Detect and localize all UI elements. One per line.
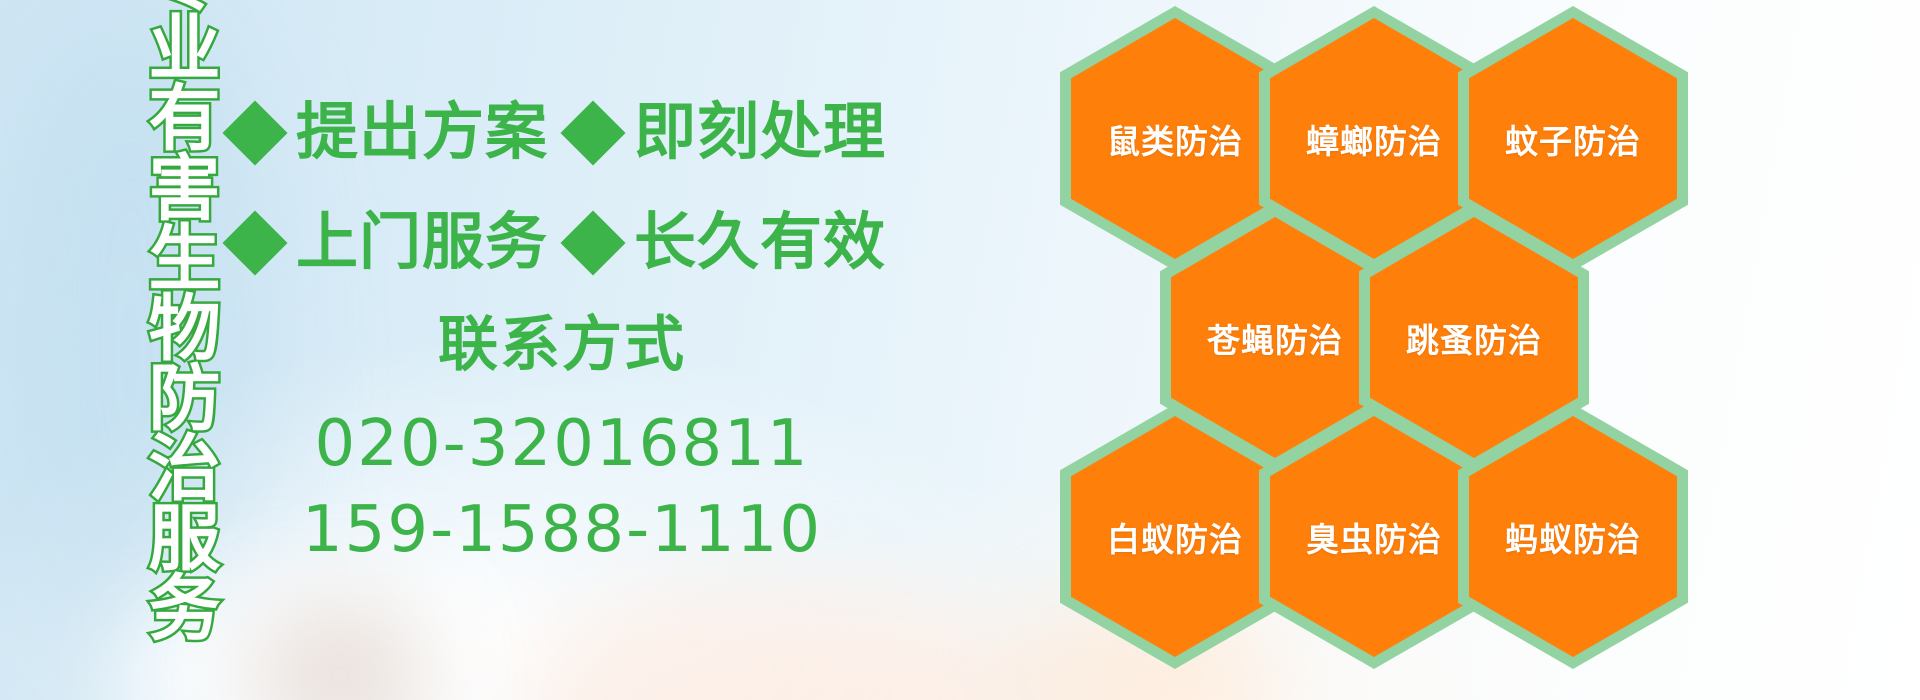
contact-block: 联系方式 020-32016811 159-1588-1110 — [232, 310, 892, 574]
feature-label: 长久有效 — [634, 212, 886, 274]
contact-phone-mobile[interactable]: 159-1588-1110 — [232, 487, 892, 573]
feature-item: 即刻处理 — [570, 102, 886, 164]
diamond-bullet-icon — [222, 100, 287, 165]
feature-item: 上门服务 — [232, 212, 548, 274]
service-label: 蚂蚁防治 — [1505, 513, 1641, 561]
feature-label: 上门服务 — [296, 212, 548, 274]
diamond-bullet-icon — [560, 100, 625, 165]
vertical-headline: 专业有害生物防治服务 — [104, 10, 214, 570]
feature-row: 上门服务 长久有效 — [232, 188, 872, 298]
service-label: 鼠类防治 — [1107, 115, 1243, 163]
pest-control-banner: 专业有害生物防治服务 提出方案 即刻处理 上门服务 长久有效 联 — [0, 0, 1920, 700]
feature-item: 提出方案 — [232, 102, 548, 164]
contact-title: 联系方式 — [232, 310, 892, 379]
service-label: 苍蝇防治 — [1207, 314, 1343, 362]
service-label: 跳蚤防治 — [1406, 314, 1542, 362]
feature-row: 提出方案 即刻处理 — [232, 78, 872, 188]
service-honeycomb: 鼠类防治 蟑螂防治 蚊子防治 苍蝇防治 跳蚤防治 白蚁防治 臭虫防治 — [1060, 0, 1820, 700]
service-label: 臭虫防治 — [1306, 513, 1442, 561]
background-haze-c — [250, 600, 430, 700]
background-haze-b — [520, 585, 1040, 700]
feature-item: 长久有效 — [570, 212, 886, 274]
service-label: 白蚁防治 — [1107, 513, 1243, 561]
diamond-bullet-icon — [222, 210, 287, 275]
feature-label: 即刻处理 — [634, 102, 886, 164]
feature-label: 提出方案 — [296, 102, 548, 164]
service-label: 蚊子防治 — [1505, 115, 1641, 163]
feature-list: 提出方案 即刻处理 上门服务 长久有效 — [232, 78, 872, 298]
contact-phone-landline[interactable]: 020-32016811 — [232, 401, 892, 487]
diamond-bullet-icon — [560, 210, 625, 275]
service-label: 蟑螂防治 — [1306, 115, 1442, 163]
